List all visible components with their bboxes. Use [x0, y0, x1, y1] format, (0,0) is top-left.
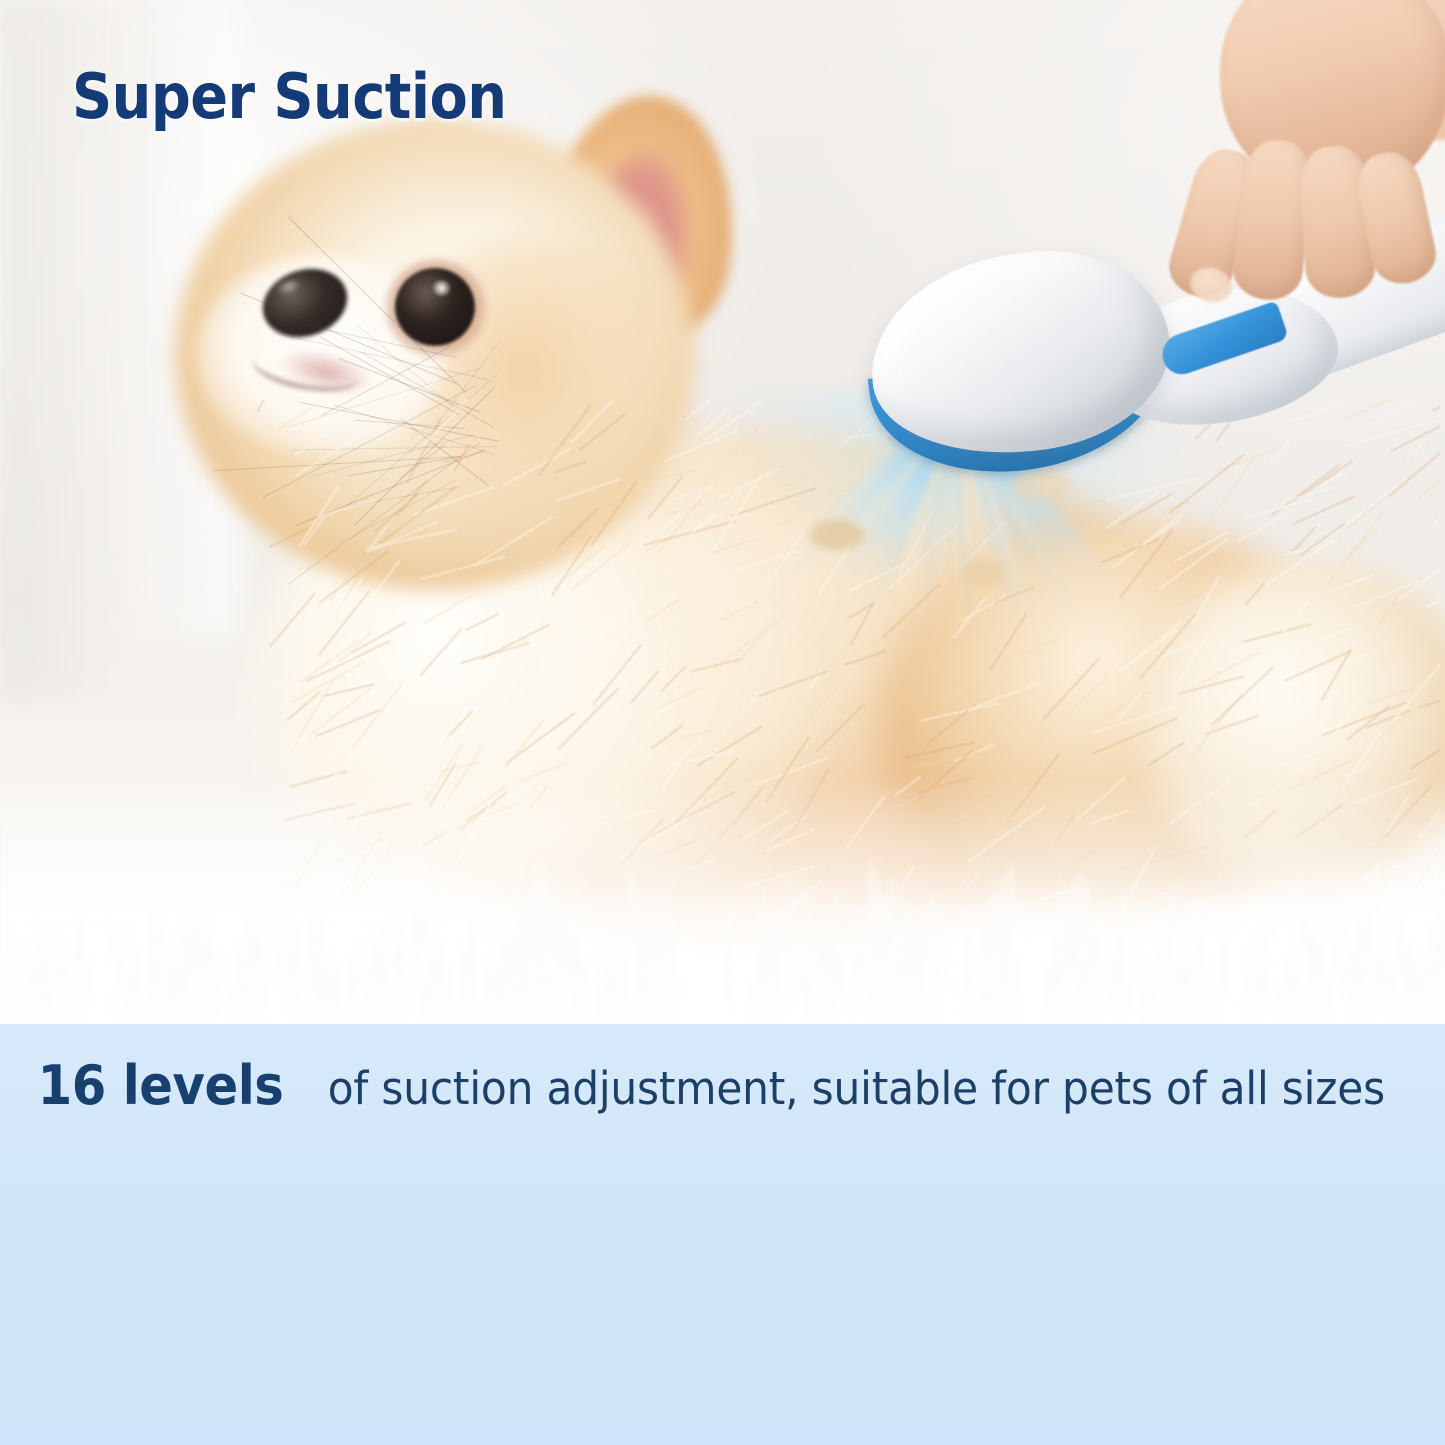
suction-levels-banner: 16 levels of suction adjustment, suitabl…	[0, 1024, 1445, 1445]
banner-headline: 16 levels of suction adjustment, suitabl…	[0, 1054, 1445, 1117]
page-title: Super Suction	[72, 60, 506, 133]
rug-fibers	[0, 794, 1445, 1024]
loose-fur-dust-1	[810, 520, 864, 550]
banner-headline-rest: of suction adjustment, suitable for pets…	[327, 1062, 1384, 1115]
hero-photo: Super Suction	[0, 0, 1445, 1024]
product-feature-image: Super Suction 16 levels of suction adjus…	[0, 0, 1445, 1445]
human-hand	[1160, 0, 1445, 340]
loose-fur-dust-2	[960, 560, 1006, 586]
banner-headline-strong: 16 levels	[37, 1054, 283, 1117]
